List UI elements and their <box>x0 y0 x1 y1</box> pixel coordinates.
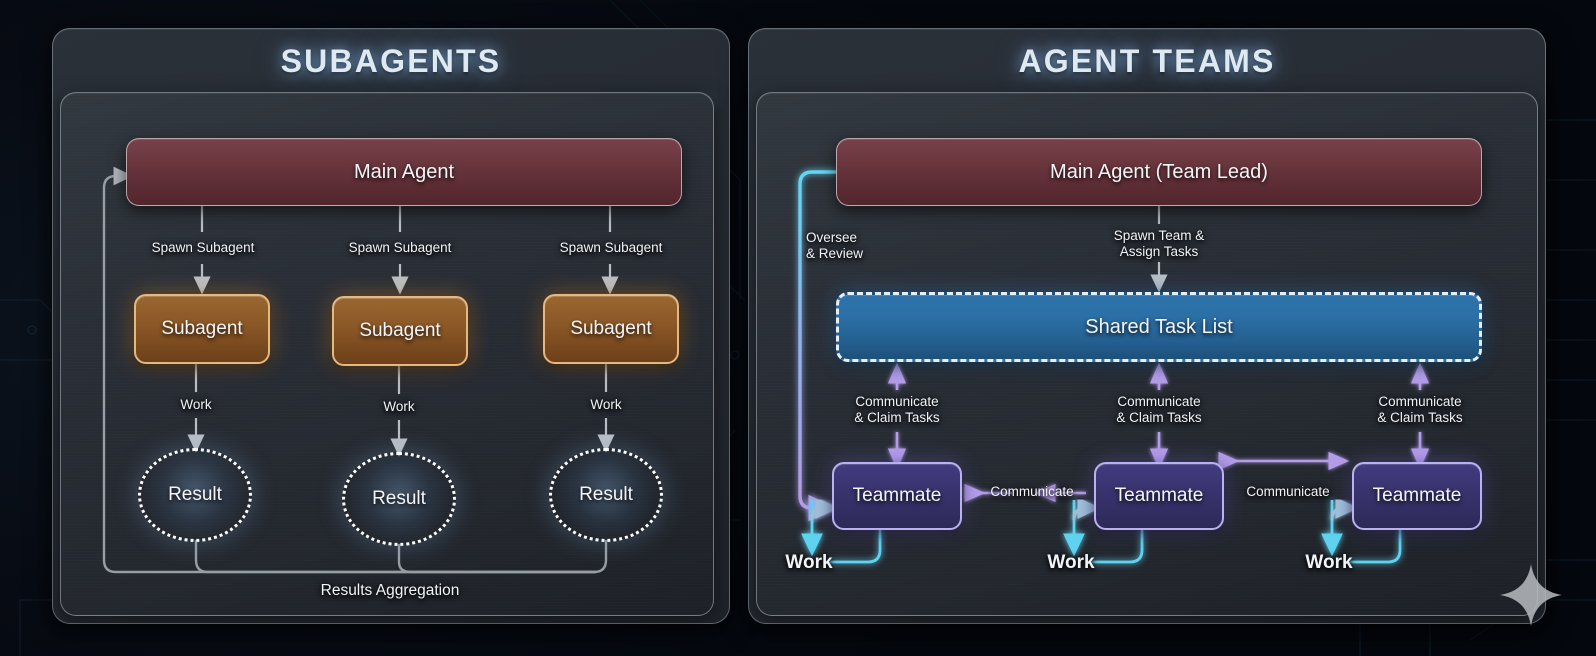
node-label: Teammate <box>1373 485 1462 507</box>
node-result-3[interactable]: Result <box>549 448 663 542</box>
node-shared-task-list[interactable]: Shared Task List <box>836 292 1482 362</box>
node-label: Subagent <box>570 318 651 340</box>
node-label: Main Agent (Team Lead) <box>1050 161 1268 184</box>
sparkle-icon <box>1498 562 1564 628</box>
node-teammate-2[interactable]: Teammate <box>1094 462 1224 530</box>
panel-title-subagents: SUBAGENTS <box>53 43 729 80</box>
node-label: Teammate <box>1115 485 1204 507</box>
node-label: Result <box>579 484 633 506</box>
node-main-agent-team-lead[interactable]: Main Agent (Team Lead) <box>836 138 1482 206</box>
node-label: Result <box>372 488 426 510</box>
node-subagent-1[interactable]: Subagent <box>134 294 270 364</box>
node-label: Teammate <box>853 485 942 507</box>
node-label: Subagent <box>359 320 440 342</box>
node-result-1[interactable]: Result <box>138 448 252 542</box>
node-label: Subagent <box>161 318 242 340</box>
node-teammate-1[interactable]: Teammate <box>832 462 962 530</box>
node-result-2[interactable]: Result <box>342 452 456 546</box>
node-label: Shared Task List <box>1085 316 1233 339</box>
node-main-agent-subagents[interactable]: Main Agent <box>126 138 682 206</box>
node-subagent-3[interactable]: Subagent <box>543 294 679 364</box>
node-label: Result <box>168 484 222 506</box>
node-subagent-2[interactable]: Subagent <box>332 296 468 366</box>
node-teammate-3[interactable]: Teammate <box>1352 462 1482 530</box>
node-label: Main Agent <box>354 161 454 184</box>
panel-title-agent-teams: AGENT TEAMS <box>749 43 1545 80</box>
